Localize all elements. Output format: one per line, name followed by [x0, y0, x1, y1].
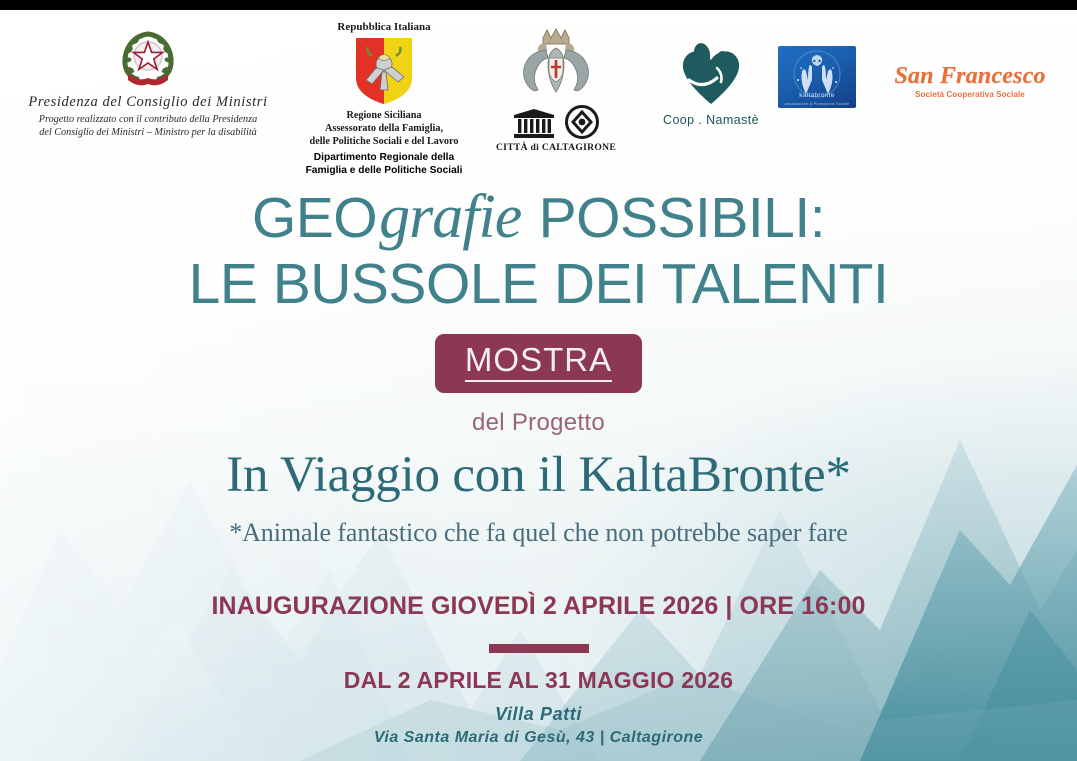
logo-kaltabronte: kaltabronte Associazione di Promozione S…	[778, 46, 858, 108]
namaste-heart-figures-icon	[675, 34, 747, 106]
logo-caltagirone-label: CITTÀ di CALTAGIRONE	[488, 142, 624, 153]
event-poster: Presidenza del Consiglio dei Ministri Pr…	[0, 0, 1077, 761]
project-footnote: *Animale fantastico che fa quel che non …	[0, 518, 1077, 548]
logo-san-francesco-sublabel: Società Cooperativa Sociale	[882, 90, 1058, 99]
logo-regione-line5: Famiglia e delle Politiche Sociali	[284, 164, 484, 177]
caltagirone-eagle-crest-icon	[513, 26, 599, 104]
mostra-badge-container: MOSTRA	[0, 334, 1077, 393]
poster-main-title: GEOgrafie POSSIBILI: LE BUSSOLE DEI TALE…	[0, 186, 1077, 317]
logo-regione-line2: Assessorato della Famiglia,	[284, 122, 484, 135]
logo-presidenza-title: Presidenza del Consiglio dei Ministri	[8, 94, 288, 111]
logo-regione-line1: Regione Siciliana	[284, 109, 484, 122]
logo-presidenza-consiglio-ministri: Presidenza del Consiglio dei Ministri Pr…	[8, 28, 288, 139]
top-black-bar	[0, 0, 1077, 10]
unesco-circle-emblem-icon	[565, 105, 599, 139]
logo-coop-namaste: Coop . Namastè	[652, 34, 770, 127]
logo-namaste-label: Coop . Namastè	[652, 113, 770, 127]
logo-regione-line4: Dipartimento Regionale della	[284, 151, 484, 164]
unesco-temple-icon	[513, 109, 555, 139]
logo-regione-header: Repubblica Italiana	[284, 21, 484, 33]
venue-address: Via Santa Maria di Gesù, 43 | Caltagiron…	[0, 729, 1077, 747]
logo-kaltabronte-sublabel: Associazione di Promozione Sociale	[778, 102, 856, 106]
logo-presidenza-subtitle-line2: del Consiglio dei Ministri – Ministro pe…	[8, 126, 288, 139]
title-line-2: LE BUSSOLE DEI TALENTI	[0, 253, 1077, 317]
logo-kaltabronte-label: kaltabronte	[778, 92, 856, 99]
logo-citta-di-caltagirone: CITTÀ di CALTAGIRONE	[488, 26, 624, 153]
exhibition-date-range: DAL 2 APRILE AL 31 MAGGIO 2026	[0, 667, 1077, 694]
title-word-geo: GEO	[252, 186, 377, 250]
title-word-possibili: POSSIBILI:	[523, 186, 825, 250]
italian-republic-emblem-icon	[116, 28, 180, 90]
logo-san-francesco: San Francesco Società Cooperativa Social…	[882, 64, 1058, 99]
divider-container	[0, 640, 1077, 658]
opening-datetime: INAUGURAZIONE GIOVEDÌ 2 APRILE 2026 | OR…	[0, 592, 1077, 621]
logo-regione-siciliana: Repubblica Italiana Regione Siciliana	[284, 21, 484, 177]
logo-regione-line3: delle Politiche Sociali e del Lavoro	[284, 135, 484, 148]
title-line-1: GEOgrafie POSSIBILI:	[0, 186, 1077, 249]
mostra-badge-label: MOSTRA	[465, 343, 612, 382]
logo-san-francesco-label: San Francesco	[882, 64, 1058, 88]
sponsor-logo-strip: Presidenza del Consiglio dei Ministri Pr…	[0, 16, 1077, 176]
divider-rule	[489, 644, 589, 653]
sicily-trinacria-shield-icon	[352, 36, 416, 106]
project-prefix-label: del Progetto	[0, 409, 1077, 437]
logo-presidenza-subtitle-line1: Progetto realizzato con il contributo de…	[8, 113, 288, 126]
title-word-grafie: grafie	[377, 183, 523, 251]
venue-name: Villa Patti	[0, 704, 1077, 725]
project-title: In Viaggio con il KaltaBronte*	[0, 447, 1077, 503]
mostra-badge: MOSTRA	[435, 334, 642, 393]
